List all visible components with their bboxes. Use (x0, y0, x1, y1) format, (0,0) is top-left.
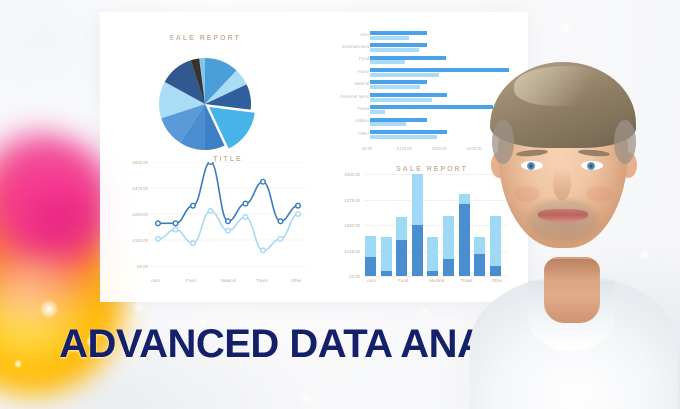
line-marker (278, 219, 283, 224)
vbar-column (396, 174, 407, 276)
neck-shadow (544, 259, 600, 281)
line-marker (278, 237, 283, 242)
line-marker (191, 203, 196, 208)
line-marker (261, 248, 266, 253)
line-chart-plot (150, 162, 306, 274)
hbar-xtick: £0.00 (362, 146, 372, 151)
vbar-column (381, 174, 392, 276)
bokeh-dot (40, 300, 58, 318)
line-xtick: Other (291, 278, 302, 283)
line-marker (191, 241, 196, 246)
vbar-ytick: £0.00 (330, 274, 360, 279)
temple-right (614, 120, 636, 164)
vbar-segment-dark (443, 259, 454, 276)
hbar-series1 (370, 31, 427, 35)
line-xtick: Medical (221, 278, 236, 283)
hbar-series1 (370, 130, 447, 134)
pie-slices (155, 54, 259, 154)
vbar-ytick: £375.00 (330, 198, 360, 203)
hbar-series2 (370, 48, 419, 52)
vbar-column (365, 174, 376, 276)
line-ytick: £0.00 (118, 264, 148, 269)
vbar-segment-dark (412, 225, 423, 276)
hbar-xtick: £250.00 (432, 146, 447, 151)
hbar-series1 (370, 56, 446, 60)
vbar-ytick: £500.00 (330, 172, 360, 177)
vbar-ytick: £125.00 (330, 249, 360, 254)
iris-left (527, 162, 535, 170)
nose (553, 168, 571, 200)
hbar-series2 (370, 85, 420, 89)
hbar-category-label: Travel (357, 106, 369, 111)
vbar-column (412, 174, 423, 276)
hbar-category-label: Home (358, 69, 369, 74)
line-marker (208, 162, 213, 164)
hbar-series2 (370, 122, 406, 126)
beard (514, 196, 612, 254)
vbar-xtick: Medical (429, 278, 444, 283)
hbar-series1 (370, 118, 427, 122)
hbar-series2 (370, 60, 405, 64)
vbar-segment-dark (396, 240, 407, 276)
line-ytick: £250.00 (118, 212, 148, 217)
line-chart: TITLE £500.00£375.00£250.00£125.00£0.00 … (118, 158, 308, 294)
hbar-category-label: Entertainment (342, 44, 369, 49)
hbar-category-label: Medical (354, 81, 369, 86)
vbar-ytick: £250.00 (330, 223, 360, 228)
bokeh-dot (420, 306, 430, 316)
mouth (538, 209, 588, 222)
hbar-category-label: Food (359, 56, 369, 61)
hbar-series2 (370, 98, 432, 102)
line-marker (156, 237, 161, 242)
hbar-series2 (370, 36, 409, 40)
line-marker (296, 203, 301, 208)
hbar-category-label: Other (358, 131, 369, 136)
line-marker (156, 221, 161, 226)
hbar-series1 (370, 93, 447, 97)
temple-left (492, 120, 514, 164)
eye-right (581, 161, 603, 170)
vbar-column (427, 174, 438, 276)
vbar-segment-dark (381, 271, 392, 276)
pie-chart-plot (155, 54, 259, 154)
vbar-column (443, 174, 454, 276)
line-marker (261, 179, 266, 184)
hbar-category-label: Auto (360, 32, 369, 37)
hbar-series2 (370, 73, 439, 77)
line-xtick: Auto (151, 278, 160, 283)
hbar-series2 (370, 135, 437, 139)
line-marker (226, 228, 231, 233)
line-xtick: Travel (256, 278, 268, 283)
pie-chart-title: SALE REPORT (130, 35, 280, 42)
hbar-series1 (370, 80, 427, 84)
vbar-segment-dark (427, 271, 438, 276)
line-ytick: £375.00 (118, 186, 148, 191)
vbar-xtick: Auto (367, 278, 376, 283)
line-marker (173, 221, 178, 226)
vbar-xtick: Food (398, 278, 408, 283)
hbar-series1 (370, 43, 427, 47)
line-marker (243, 201, 248, 206)
bokeh-dot (132, 300, 146, 314)
line-marker (208, 209, 213, 214)
line-marker (296, 212, 301, 217)
hbar-category-label: Personal Items (340, 94, 369, 99)
iris-right (587, 162, 595, 170)
line-marker (243, 215, 248, 220)
promo-graphic: SALE REPORT AutoEntertainmentFoodHomeMed… (0, 0, 680, 409)
presenter-photo (462, 0, 680, 409)
hair-highlight (514, 66, 614, 106)
line-marker (173, 227, 178, 232)
vbar-segment-dark (365, 257, 376, 276)
eye-left (521, 161, 543, 170)
hbar-category-label: Utilities (355, 118, 369, 123)
hbar-xtick: £125.00 (397, 146, 412, 151)
line-ytick: £125.00 (118, 238, 148, 243)
cheek-left (514, 186, 540, 202)
cheek-right (586, 186, 612, 202)
bokeh-dot (300, 392, 313, 405)
hbar-series2 (370, 110, 385, 114)
line-marker (226, 219, 231, 224)
line-xtick: Food (186, 278, 196, 283)
line-ytick: £500.00 (118, 160, 148, 165)
